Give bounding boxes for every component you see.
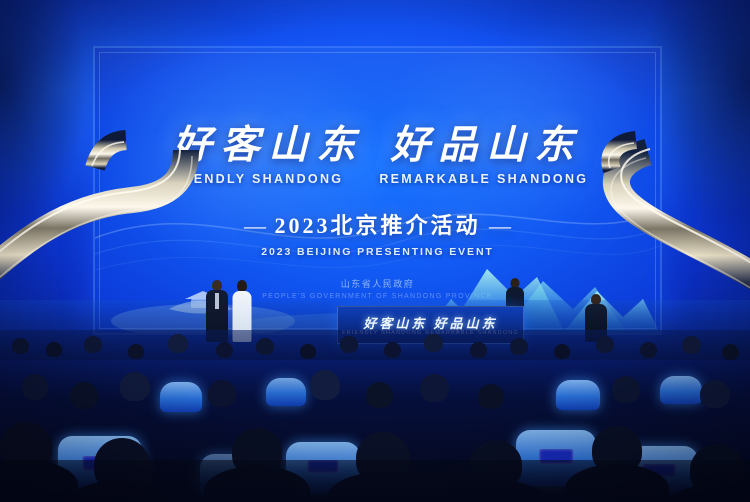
- audience-area: [0, 330, 750, 502]
- headline-chinese-right: 好品山东: [391, 124, 583, 167]
- subtitle-chinese-text: 2023北京推介活动: [274, 213, 480, 238]
- chair-cover: [556, 380, 600, 410]
- foreground-shadow-band: [0, 460, 750, 502]
- headline-chinese: 好客山东好品山东: [95, 126, 660, 165]
- headline-chinese-left: 好客山东: [172, 124, 364, 167]
- headline-english-row: FRIENDLY SHANDONG REMARKABLE SHANDONG: [95, 172, 660, 186]
- chair-cover: [266, 378, 306, 406]
- chair-cover: [660, 376, 702, 404]
- event-photo: 好客山东好品山东 FRIENDLY SHANDONG REMARKABLE SH…: [0, 0, 750, 502]
- headline-english-left: FRIENDLY SHANDONG: [167, 172, 344, 186]
- headline-english-right: REMARKABLE SHANDONG: [379, 172, 588, 186]
- led-backdrop-screen: 好客山东好品山东 FRIENDLY SHANDONG REMARKABLE SH…: [95, 48, 660, 333]
- subtitle-dash-right: —: [489, 213, 511, 238]
- subtitle-dash-left: —: [244, 213, 266, 238]
- chair-cover: [160, 382, 202, 412]
- subtitle-chinese: — 2023北京推介活动 —: [95, 208, 660, 240]
